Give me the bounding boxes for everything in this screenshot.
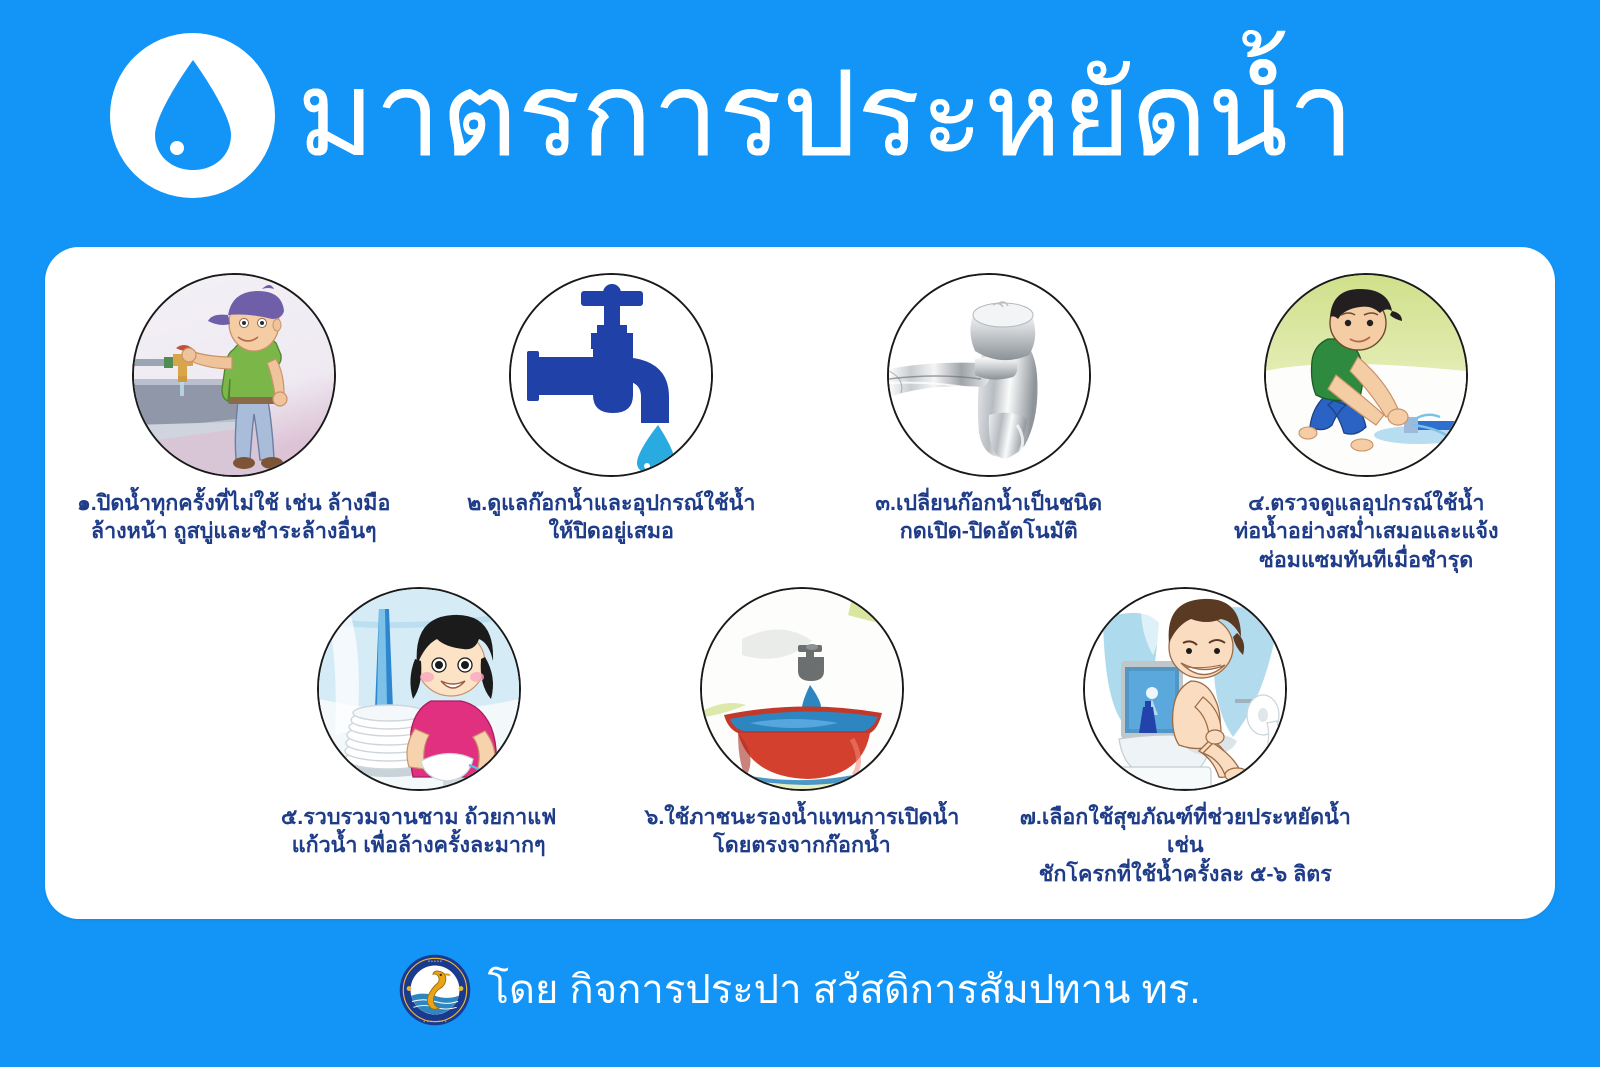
man-repairing-leaking-pipe-illustration bbox=[1266, 275, 1466, 475]
blue-faucet-symbol-with-drop-illustration bbox=[511, 275, 711, 475]
tip-item-1[interactable]: ๑.ปิดน้ำทุกครั้งที่ไม่ใช้ เช่น ล้างมือ ล… bbox=[56, 273, 411, 574]
tip-1-image bbox=[132, 273, 336, 477]
tip-item-5[interactable]: ๕.รวบรวมจานชาม ถ้วยกาแฟ แก้วน้ำ เพื่อล้า… bbox=[244, 587, 594, 888]
tip-7-image bbox=[1083, 587, 1287, 791]
boy-on-water-saving-toilet-illustration bbox=[1085, 589, 1285, 789]
tip-5-image bbox=[317, 587, 521, 791]
tip-item-7[interactable]: ๗.เลือกใช้สุขภัณฑ์ที่ช่วยประหยัดน้ำ เช่น… bbox=[1010, 587, 1360, 888]
girl-washing-dishes-illustration bbox=[319, 589, 519, 789]
tips-row-top: ๑.ปิดน้ำทุกครั้งที่ไม่ใช้ เช่น ล้างมือ ล… bbox=[45, 273, 1555, 574]
tip-4-image bbox=[1264, 273, 1468, 477]
chrome-push-button-faucet-illustration bbox=[889, 275, 1089, 475]
tip-item-6[interactable]: ๖.ใช้ภาชนะรองน้ำแทนการเปิดน้ำ โดยตรงจากก… bbox=[627, 587, 977, 888]
tip-2-image bbox=[509, 273, 713, 477]
page-footer: ⁕⁕⁕⁕⁕ ⁕ ⁕ ⁕ ⁕ ⁕ ⁕ ⁕ โดย กิจการประปา สวัส… bbox=[0, 940, 1600, 1040]
tip-item-3[interactable]: ๓.เปลี่ยนก๊อกน้ำเป็นชนิด กดเปิด-ปิดอัตโน… bbox=[811, 273, 1166, 574]
seahorse-seal-icon: ⁕⁕⁕⁕⁕ ⁕ ⁕ ⁕ ⁕ ⁕ ⁕ ⁕ bbox=[399, 954, 471, 1026]
page-title: มาตรการประหยัดน้ำ bbox=[297, 56, 1354, 174]
svg-text:⁕ ⁕ ⁕ ⁕ ⁕ ⁕ ⁕: ⁕ ⁕ ⁕ ⁕ ⁕ ⁕ ⁕ bbox=[423, 1019, 448, 1023]
tip-1-caption: ๑.ปิดน้ำทุกครั้งที่ไม่ใช้ เช่น ล้างมือ ล… bbox=[77, 489, 390, 546]
tip-4-caption: ๔.ตรวจดูแลอุปกรณ์ใช้น้ำ ท่อน้ำอย่างสม่ำเ… bbox=[1234, 489, 1498, 574]
tip-7-caption: ๗.เลือกใช้สุขภัณฑ์ที่ช่วยประหยัดน้ำ เช่น… bbox=[1010, 803, 1360, 888]
tip-5-caption: ๕.รวบรวมจานชาม ถ้วยกาแฟ แก้วน้ำ เพื่อล้า… bbox=[281, 803, 556, 860]
boy-closing-tap-at-sink-illustration bbox=[134, 275, 334, 475]
water-drop-logo-badge bbox=[110, 33, 275, 198]
tip-3-caption: ๓.เปลี่ยนก๊อกน้ำเป็นชนิด กดเปิด-ปิดอัตโน… bbox=[875, 489, 1102, 546]
water-drop-icon bbox=[147, 56, 239, 174]
tip-3-image bbox=[887, 273, 1091, 477]
svg-text:⁕⁕⁕⁕⁕: ⁕⁕⁕⁕⁕ bbox=[428, 960, 443, 964]
tip-item-4[interactable]: ๔.ตรวจดูแลอุปกรณ์ใช้น้ำ ท่อน้ำอย่างสม่ำเ… bbox=[1189, 273, 1544, 574]
red-basin-collecting-water-illustration bbox=[702, 589, 902, 789]
page-header: มาตรการประหยัดน้ำ bbox=[0, 0, 1600, 230]
tip-6-caption: ๖.ใช้ภาชนะรองน้ำแทนการเปิดน้ำ โดยตรงจากก… bbox=[645, 803, 960, 860]
tip-2-caption: ๒.ดูแลก๊อกน้ำและอุปกรณ์ใช้น้ำ ให้ปิดอยู่… bbox=[467, 489, 755, 546]
tips-card: ๑.ปิดน้ำทุกครั้งที่ไม่ใช้ เช่น ล้างมือ ล… bbox=[45, 247, 1555, 919]
tips-row-bottom: ๕.รวบรวมจานชาม ถ้วยกาแฟ แก้วน้ำ เพื่อล้า… bbox=[227, 587, 1377, 888]
footer-credit-text: โดย กิจการประปา สวัสดิการสัมปทาน ทร. bbox=[487, 970, 1200, 1010]
tip-6-image bbox=[700, 587, 904, 791]
tip-item-2[interactable]: ๒.ดูแลก๊อกน้ำและอุปกรณ์ใช้น้ำ ให้ปิดอยู่… bbox=[434, 273, 789, 574]
